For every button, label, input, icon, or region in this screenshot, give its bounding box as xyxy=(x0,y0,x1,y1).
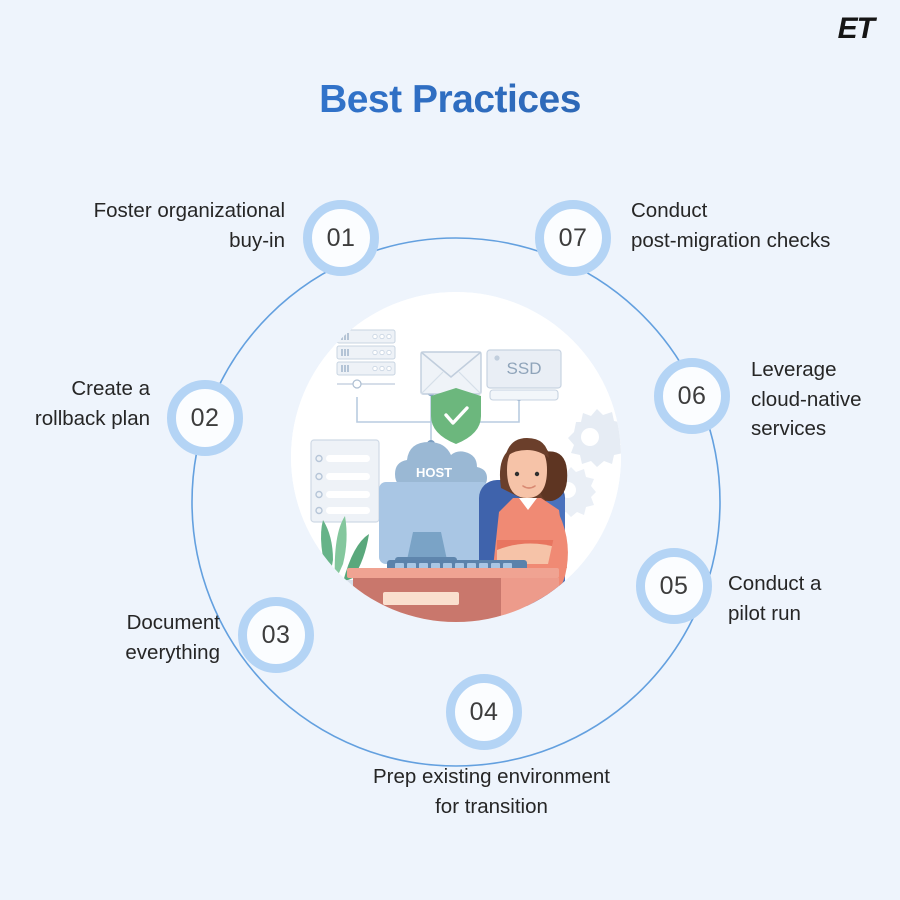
email-envelope-icon xyxy=(421,352,481,394)
step-label-01: Foster organizational buy-in xyxy=(20,196,285,255)
checklist-document-icon xyxy=(311,440,379,522)
step-label-02: Create a rollback plan xyxy=(0,374,150,433)
svg-text:SSD: SSD xyxy=(507,359,542,378)
step-node-05[interactable]: 05 xyxy=(636,548,712,624)
step-node-01[interactable]: 01 xyxy=(303,200,379,276)
step-node-02[interactable]: 02 xyxy=(167,380,243,456)
desk xyxy=(347,568,559,622)
svg-text:HOST: HOST xyxy=(416,465,452,480)
step-node-03[interactable]: 03 xyxy=(238,597,314,673)
infographic-canvas: ET Best Practices xyxy=(0,0,900,900)
step-label-04: Prep existing environment for transition xyxy=(334,762,649,821)
step-label-05: Conduct a pilot run xyxy=(728,569,898,628)
step-label-06: Leverage cloud-native services xyxy=(751,355,900,444)
central-illustration: SSD HOST xyxy=(291,292,621,622)
step-label-07: Conduct post-migration checks xyxy=(631,196,896,255)
step-node-06[interactable]: 06 xyxy=(654,358,730,434)
step-node-04[interactable]: 04 xyxy=(446,674,522,750)
step-label-03: Document everything xyxy=(15,608,220,667)
step-node-07[interactable]: 07 xyxy=(535,200,611,276)
desktop-monitor-icon xyxy=(379,482,489,565)
ssd-drive-icon: SSD xyxy=(487,350,561,400)
